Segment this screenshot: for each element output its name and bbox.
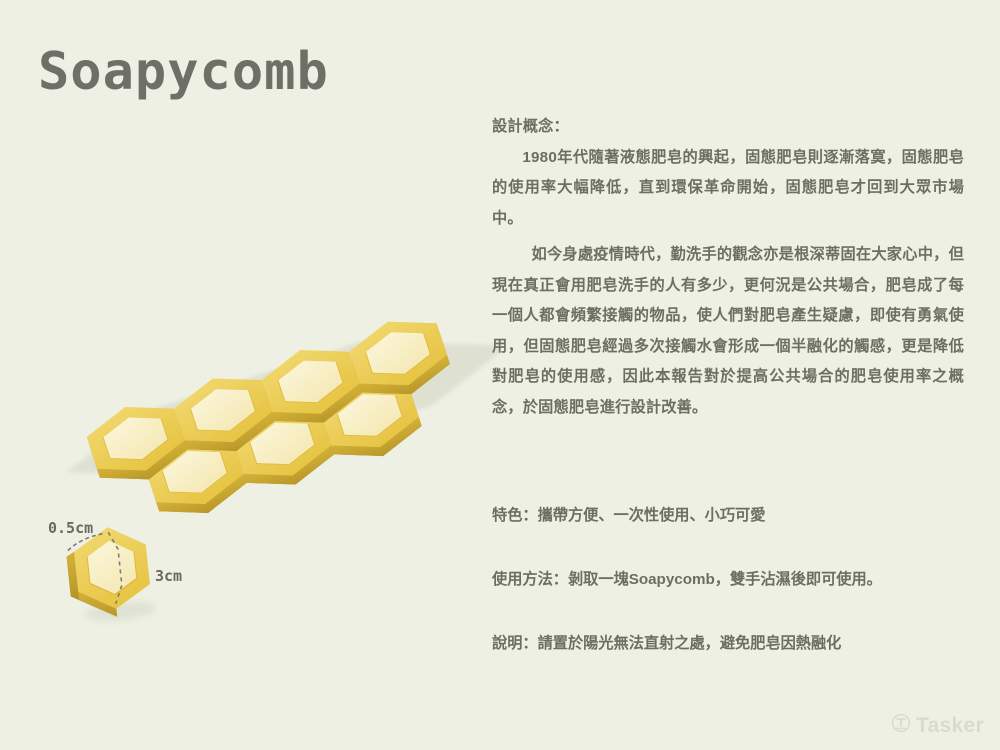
- design-concept-paragraph-2: 如今身處疫情時代，勤洗手的觀念亦是根深蒂固在大家心中，但現在真正會用肥皂洗手的人…: [492, 240, 964, 423]
- single-hexagon-sample: [64, 523, 157, 625]
- honeycomb-slab: [53, 288, 500, 550]
- slide-root: Soapycomb: [0, 0, 1000, 750]
- tasker-logo-icon: [891, 713, 911, 738]
- honeycomb-render-svg: [0, 0, 500, 750]
- width-label: 3cm: [155, 567, 182, 585]
- design-concept-paragraph-1: 1980年代隨著液態肥皂的興起，固態肥皂則逐漸落寞，固態肥皂的使用率大幅降低，直…: [492, 143, 964, 235]
- design-concept-heading: 設計概念：: [492, 112, 964, 143]
- features-line: 特色：攜帶方便、一次性使用、小巧可愛: [492, 503, 765, 529]
- watermark-text: Tasker: [916, 714, 984, 738]
- soapycomb-illustration: [0, 0, 500, 750]
- description-text-block: 設計概念： 1980年代隨著液態肥皂的興起，固態肥皂則逐漸落寞，固態肥皂的使用率…: [492, 112, 964, 423]
- usage-line: 使用方法：剝取一塊Soapycomb，雙手沾濕後即可使用。: [492, 567, 882, 593]
- thickness-label: 0.5cm: [48, 519, 93, 537]
- watermark: Tasker: [891, 713, 984, 738]
- note-line: 說明：請置於陽光無法直射之處，避免肥皂因熱融化: [492, 631, 841, 657]
